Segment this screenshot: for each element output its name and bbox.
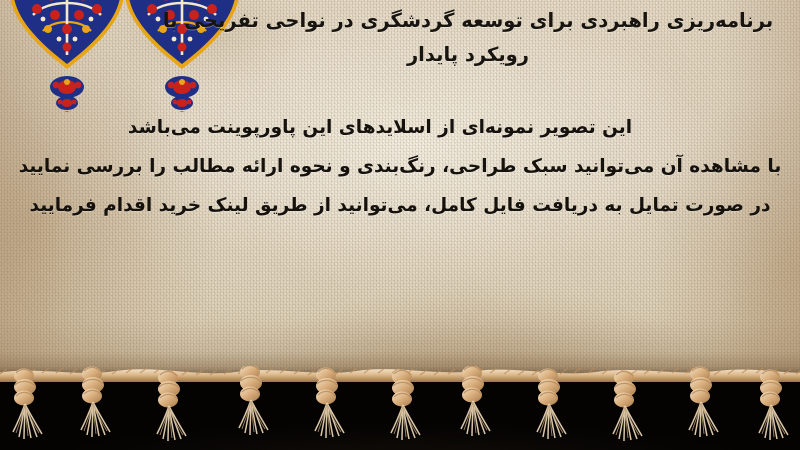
pendant-left-icon xyxy=(50,76,84,112)
body-line-3: در صورت تمایل به دریافت فایل کامل، می‌تو… xyxy=(14,186,786,225)
title-line-2: رویکرد پایدار xyxy=(162,38,782,72)
title-line-1: برنامه‌ریزی راهبردی برای توسعه گردشگری د… xyxy=(162,4,782,38)
pendant-right-icon xyxy=(165,76,199,112)
slide-body-text: این تصویر نمونه‌ای از اسلایدهای این پاور… xyxy=(14,108,786,225)
fringe-tassel-row xyxy=(13,366,788,441)
presentation-slide: برنامه‌ریزی راهبردی برای توسعه گردشگری د… xyxy=(0,0,800,450)
slide-title: برنامه‌ریزی راهبردی برای توسعه گردشگری د… xyxy=(162,4,782,72)
carpet-knotted-fringe xyxy=(0,366,800,450)
body-line-2: با مشاهده آن می‌توانید سبک طراحی، رنگ‌بن… xyxy=(14,147,786,186)
medallion-left-icon xyxy=(9,0,125,69)
body-line-1: این تصویر نمونه‌ای از اسلایدهای این پاور… xyxy=(14,108,786,147)
